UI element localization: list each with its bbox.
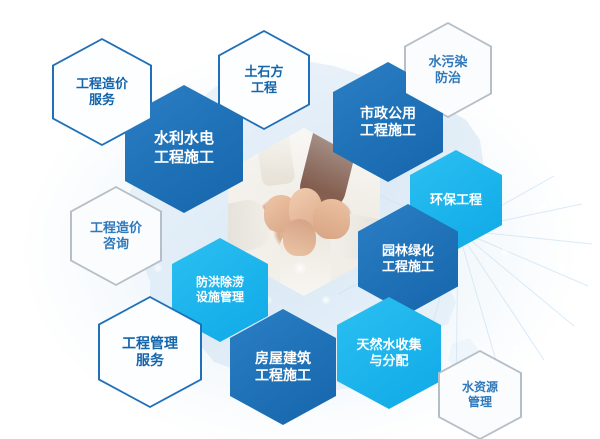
hexagon-badge-water-resource-management[interactable]: 水资源 管理 — [438, 350, 522, 439]
hexagon-label: 工程管理 服务 — [122, 335, 178, 370]
hexagon-label: 水资源 管理 — [462, 380, 498, 410]
hexagon-label: 环保工程 — [430, 192, 482, 208]
hexagon-label: 工程造价 咨询 — [90, 220, 142, 253]
hexagon-label: 水利水电 工程施工 — [154, 130, 214, 168]
hexagon-label: 土石方 工程 — [244, 64, 283, 97]
hexagon-label: 房屋建筑 工程施工 — [255, 350, 311, 385]
hexagon-label: 天然水收集 与分配 — [356, 337, 421, 370]
hexagon-label: 市政公用 工程施工 — [360, 105, 416, 140]
hexagon-label: 园林绿化 工程施工 — [382, 243, 434, 276]
bokeh-dot — [321, 295, 331, 305]
hexagon-badge-cost-consulting[interactable]: 工程造价 咨询 — [70, 186, 162, 286]
infographic-canvas: 工程造价 服务土石方 工程水污染 防治市政公用 工程施工水利水电 工程施工环保工… — [0, 0, 600, 439]
hexagon-badge-natural-water-collection[interactable]: 天然水收集 与分配 — [337, 297, 441, 409]
hexagon-label: 工程造价 服务 — [76, 76, 128, 109]
hexagon-label: 防洪除涝 设施管理 — [196, 275, 244, 305]
hexagon-label: 水污染 防治 — [428, 54, 467, 87]
